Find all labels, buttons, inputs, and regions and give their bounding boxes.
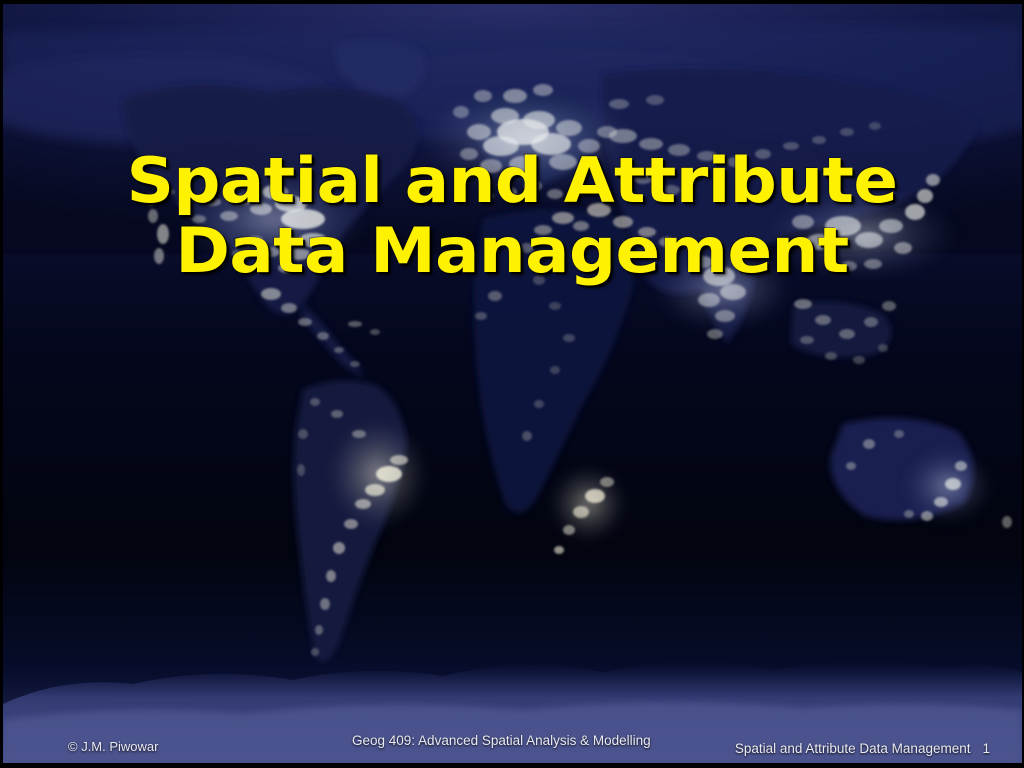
- presentation-slide: Spatial and Attribute Data Management © …: [0, 0, 1024, 768]
- copyright-notice: © J.M. Piwowar: [68, 739, 158, 754]
- slide-label-group: Spatial and Attribute Data Management 1: [735, 741, 990, 756]
- slide-number: 1: [982, 741, 990, 756]
- world-map-image: [3, 4, 1022, 764]
- earth-at-night-background: [3, 4, 1022, 764]
- slide-topic-label: Spatial and Attribute Data Management: [735, 741, 971, 756]
- slide-footer: © J.M. Piwowar Geog 409: Advanced Spatia…: [0, 708, 1024, 768]
- course-title-footer: Geog 409: Advanced Spatial Analysis & Mo…: [352, 733, 651, 748]
